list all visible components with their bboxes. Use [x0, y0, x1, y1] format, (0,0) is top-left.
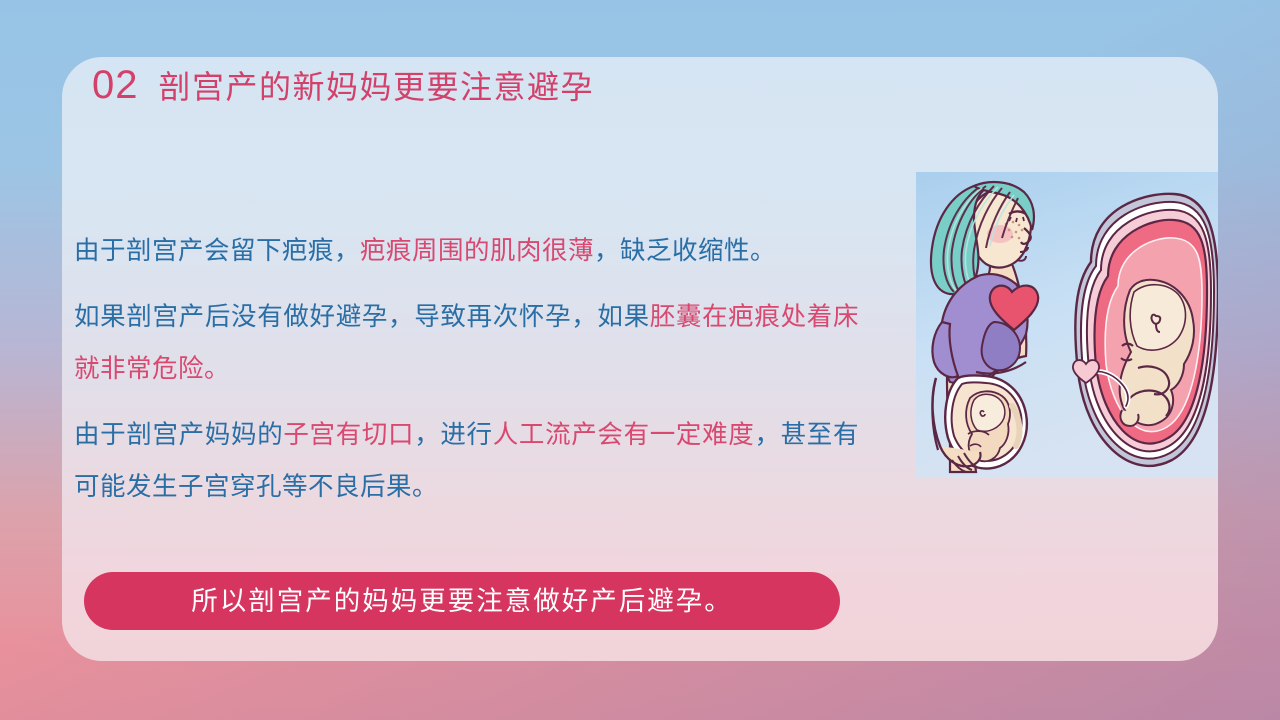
paragraph-scar: 由于剖宫产会留下疤痕，疤痕周围的肌肉很薄，缺乏收缩性。 — [74, 225, 859, 277]
run-text-highlight: 疤痕周围的肌肉很薄 — [360, 237, 594, 265]
run-text-highlight: 子宫有切口 — [283, 421, 414, 449]
run-text: ，缺乏收缩性。 — [594, 237, 776, 265]
pregnant-woman-figure — [931, 182, 1038, 472]
title-heading-text: 剖宫产的新妈妈更要注意避孕 — [159, 71, 595, 103]
run-text: 由于剖宫产会留下疤痕， — [74, 237, 360, 265]
run-text-highlight: 人工流产会有一定难度 — [493, 421, 755, 449]
page-title: 02 剖宫产的新妈妈更要注意避孕 — [92, 65, 594, 105]
content-card: 02 剖宫产的新妈妈更要注意避孕 由于剖宫产会留下疤痕，疤痕周围的肌肉很薄，缺乏… — [62, 57, 1218, 661]
run-text: 由于剖宫产妈妈的 — [74, 421, 283, 449]
conclusion-banner: 所以剖宫产的妈妈更要注意做好产后避孕。 — [84, 572, 840, 630]
paragraph-abortion-risk: 由于剖宫产妈妈的子宫有切口，进行人工流产会有一定难度，甚至有可能发生子宫穿孔等不… — [74, 409, 859, 513]
illustration-svg — [916, 172, 1218, 478]
slide-root: 02 剖宫产的新妈妈更要注意避孕 由于剖宫产会留下疤痕，疤痕周围的肌肉很薄，缺乏… — [0, 0, 1280, 720]
run-text: 如果剖宫产后没有做好避孕，导致再次怀孕，如果 — [74, 303, 650, 331]
pregnant-woman-and-womb-illustration — [916, 172, 1218, 478]
title-number: 02 — [92, 65, 139, 105]
body-text-column: 由于剖宫产会留下疤痕，疤痕周围的肌肉很薄，缺乏收缩性。 如果剖宫产后没有做好避孕… — [74, 225, 859, 513]
conclusion-text: 所以剖宫产的妈妈更要注意做好产后避孕。 — [191, 588, 733, 615]
paragraph-contraception: 如果剖宫产后没有做好避孕，导致再次怀孕，如果胚囊在疤痕处着床就非常危险。 — [74, 291, 859, 395]
run-text: ，进行 — [414, 421, 493, 449]
